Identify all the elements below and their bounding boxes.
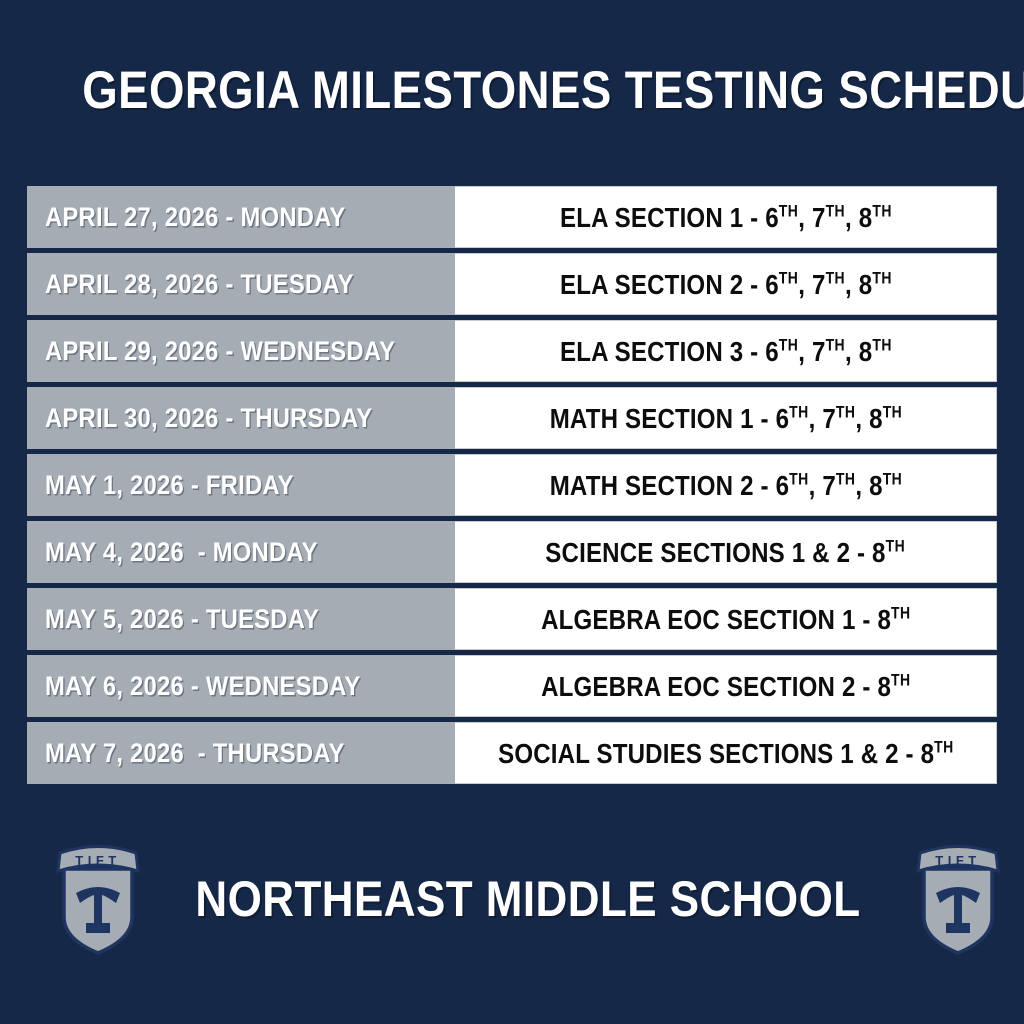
grade-ordinal-suffix: TH (778, 202, 797, 220)
grade-ordinal-suffix: TH (789, 470, 808, 488)
table-row: APRIL 30, 2026 - THURSDAYMATH SECTION 1 … (27, 387, 997, 449)
table-row: MAY 7, 2026 - THURSDAYSOCIAL STUDIES SEC… (27, 722, 997, 784)
schedule-date-cell: MAY 4, 2026 - MONDAY (27, 521, 455, 583)
table-row: MAY 6, 2026 - WEDNESDAYALGEBRA EOC SECTI… (27, 655, 997, 717)
page-title-container: GEORGIA MILESTONES TESTING SCHEDULE (0, 62, 1024, 120)
schedule-event-cell: ELA SECTION 1 - 6TH, 7TH, 8TH (455, 186, 997, 248)
table-row: APRIL 27, 2026 - MONDAYELA SECTION 1 - 6… (27, 186, 997, 248)
schedule-date-text: MAY 5, 2026 - TUESDAY (45, 604, 319, 634)
schedule-date-cell: APRIL 28, 2026 - TUESDAY (27, 253, 455, 315)
schedule-date-cell: APRIL 29, 2026 - WEDNESDAY (27, 320, 455, 382)
tift-banner-text-left: TIFT (75, 853, 120, 868)
schedule-event-cell: ALGEBRA EOC SECTION 2 - 8TH (455, 655, 997, 717)
schedule-date-cell: MAY 5, 2026 - TUESDAY (27, 588, 455, 650)
schedule-date-cell: APRIL 30, 2026 - THURSDAY (27, 387, 455, 449)
table-row: MAY 1, 2026 - FRIDAYMATH SECTION 2 - 6TH… (27, 454, 997, 516)
schedule-event-text: ALGEBRA EOC SECTION 1 - 8TH (541, 604, 910, 635)
schedule-date-text: APRIL 28, 2026 - TUESDAY (45, 269, 354, 299)
tift-logo-left: TIFT (46, 841, 150, 957)
grade-ordinal-suffix: TH (872, 336, 891, 354)
tift-shield-right (924, 869, 992, 953)
grade-ordinal-suffix: TH (872, 202, 891, 220)
schedule-event-cell: ELA SECTION 3 - 6TH, 7TH, 8TH (455, 320, 997, 382)
schedule-event-cell: SCIENCE SECTIONS 1 & 2 - 8TH (455, 521, 997, 583)
grade-ordinal-suffix: TH (882, 470, 901, 488)
tift-banner-right: TIFT (918, 847, 998, 872)
grade-ordinal-suffix: TH (825, 336, 844, 354)
grade-ordinal-suffix: TH (835, 470, 854, 488)
grade-ordinal-suffix: TH (825, 269, 844, 287)
grade-ordinal-suffix: TH (891, 671, 910, 689)
schedule-date-text: MAY 1, 2026 - FRIDAY (45, 470, 294, 500)
grade-ordinal-suffix: TH (789, 403, 808, 421)
schedule-date-text: MAY 6, 2026 - WEDNESDAY (45, 671, 361, 701)
grade-ordinal-suffix: TH (886, 537, 905, 555)
grade-ordinal-suffix: TH (891, 604, 910, 622)
schedule-date-text: APRIL 29, 2026 - WEDNESDAY (45, 336, 395, 366)
grade-ordinal-suffix: TH (882, 403, 901, 421)
schedule-event-text: MATH SECTION 2 - 6TH, 7TH, 8TH (549, 470, 901, 501)
schedule-date-text: MAY 7, 2026 - THURSDAY (45, 738, 345, 768)
grade-ordinal-suffix: TH (778, 336, 797, 354)
schedule-date-cell: MAY 1, 2026 - FRIDAY (27, 454, 455, 516)
grade-ordinal-suffix: TH (835, 403, 854, 421)
grade-ordinal-suffix: TH (825, 202, 844, 220)
tift-logo-right: TIFT (906, 841, 1010, 957)
schedule-event-cell: SOCIAL STUDIES SECTIONS 1 & 2 - 8TH (455, 722, 997, 784)
schedule-event-cell: ELA SECTION 2 - 6TH, 7TH, 8TH (455, 253, 997, 315)
schedule-date-cell: MAY 7, 2026 - THURSDAY (27, 722, 455, 784)
table-row: APRIL 29, 2026 - WEDNESDAYELA SECTION 3 … (27, 320, 997, 382)
schedule-date-text: MAY 4, 2026 - MONDAY (45, 537, 318, 567)
table-row: APRIL 28, 2026 - TUESDAYELA SECTION 2 - … (27, 253, 997, 315)
schedule-event-cell: MATH SECTION 2 - 6TH, 7TH, 8TH (455, 454, 997, 516)
schedule-event-text: ELA SECTION 3 - 6TH, 7TH, 8TH (560, 336, 892, 367)
schedule-event-cell: ALGEBRA EOC SECTION 1 - 8TH (455, 588, 997, 650)
tift-banner-left: TIFT (58, 847, 138, 872)
testing-schedule-table: APRIL 27, 2026 - MONDAYELA SECTION 1 - 6… (27, 186, 997, 789)
grade-ordinal-suffix: TH (872, 269, 891, 287)
schedule-date-text: APRIL 30, 2026 - THURSDAY (45, 403, 372, 433)
schedule-date-cell: APRIL 27, 2026 - MONDAY (27, 186, 455, 248)
schedule-date-cell: MAY 6, 2026 - WEDNESDAY (27, 655, 455, 717)
school-name: NORTHEAST MIDDLE SCHOOL (195, 872, 860, 926)
grade-ordinal-suffix: TH (778, 269, 797, 287)
schedule-event-cell: MATH SECTION 1 - 6TH, 7TH, 8TH (455, 387, 997, 449)
schedule-date-text: APRIL 27, 2026 - MONDAY (45, 202, 346, 232)
schedule-event-text: MATH SECTION 1 - 6TH, 7TH, 8TH (549, 403, 901, 434)
school-name-container: NORTHEAST MIDDLE SCHOOL (150, 872, 906, 926)
schedule-event-text: SOCIAL STUDIES SECTIONS 1 & 2 - 8TH (498, 738, 954, 769)
grade-ordinal-suffix: TH (934, 738, 953, 756)
table-row: MAY 4, 2026 - MONDAYSCIENCE SECTIONS 1 &… (27, 521, 997, 583)
schedule-event-text: ELA SECTION 1 - 6TH, 7TH, 8TH (560, 202, 892, 233)
schedule-event-text: ELA SECTION 2 - 6TH, 7TH, 8TH (560, 269, 892, 300)
table-row: MAY 5, 2026 - TUESDAYALGEBRA EOC SECTION… (27, 588, 997, 650)
page-title: GEORGIA MILESTONES TESTING SCHEDULE (82, 62, 1024, 120)
footer: TIFT NORTHEAST MIDDLE SCHOOL TIFT (0, 836, 1024, 962)
schedule-event-text: ALGEBRA EOC SECTION 2 - 8TH (541, 671, 910, 702)
tift-banner-text-right: TIFT (935, 853, 980, 868)
tift-shield-left (64, 869, 132, 953)
schedule-event-text: SCIENCE SECTIONS 1 & 2 - 8TH (546, 537, 906, 568)
